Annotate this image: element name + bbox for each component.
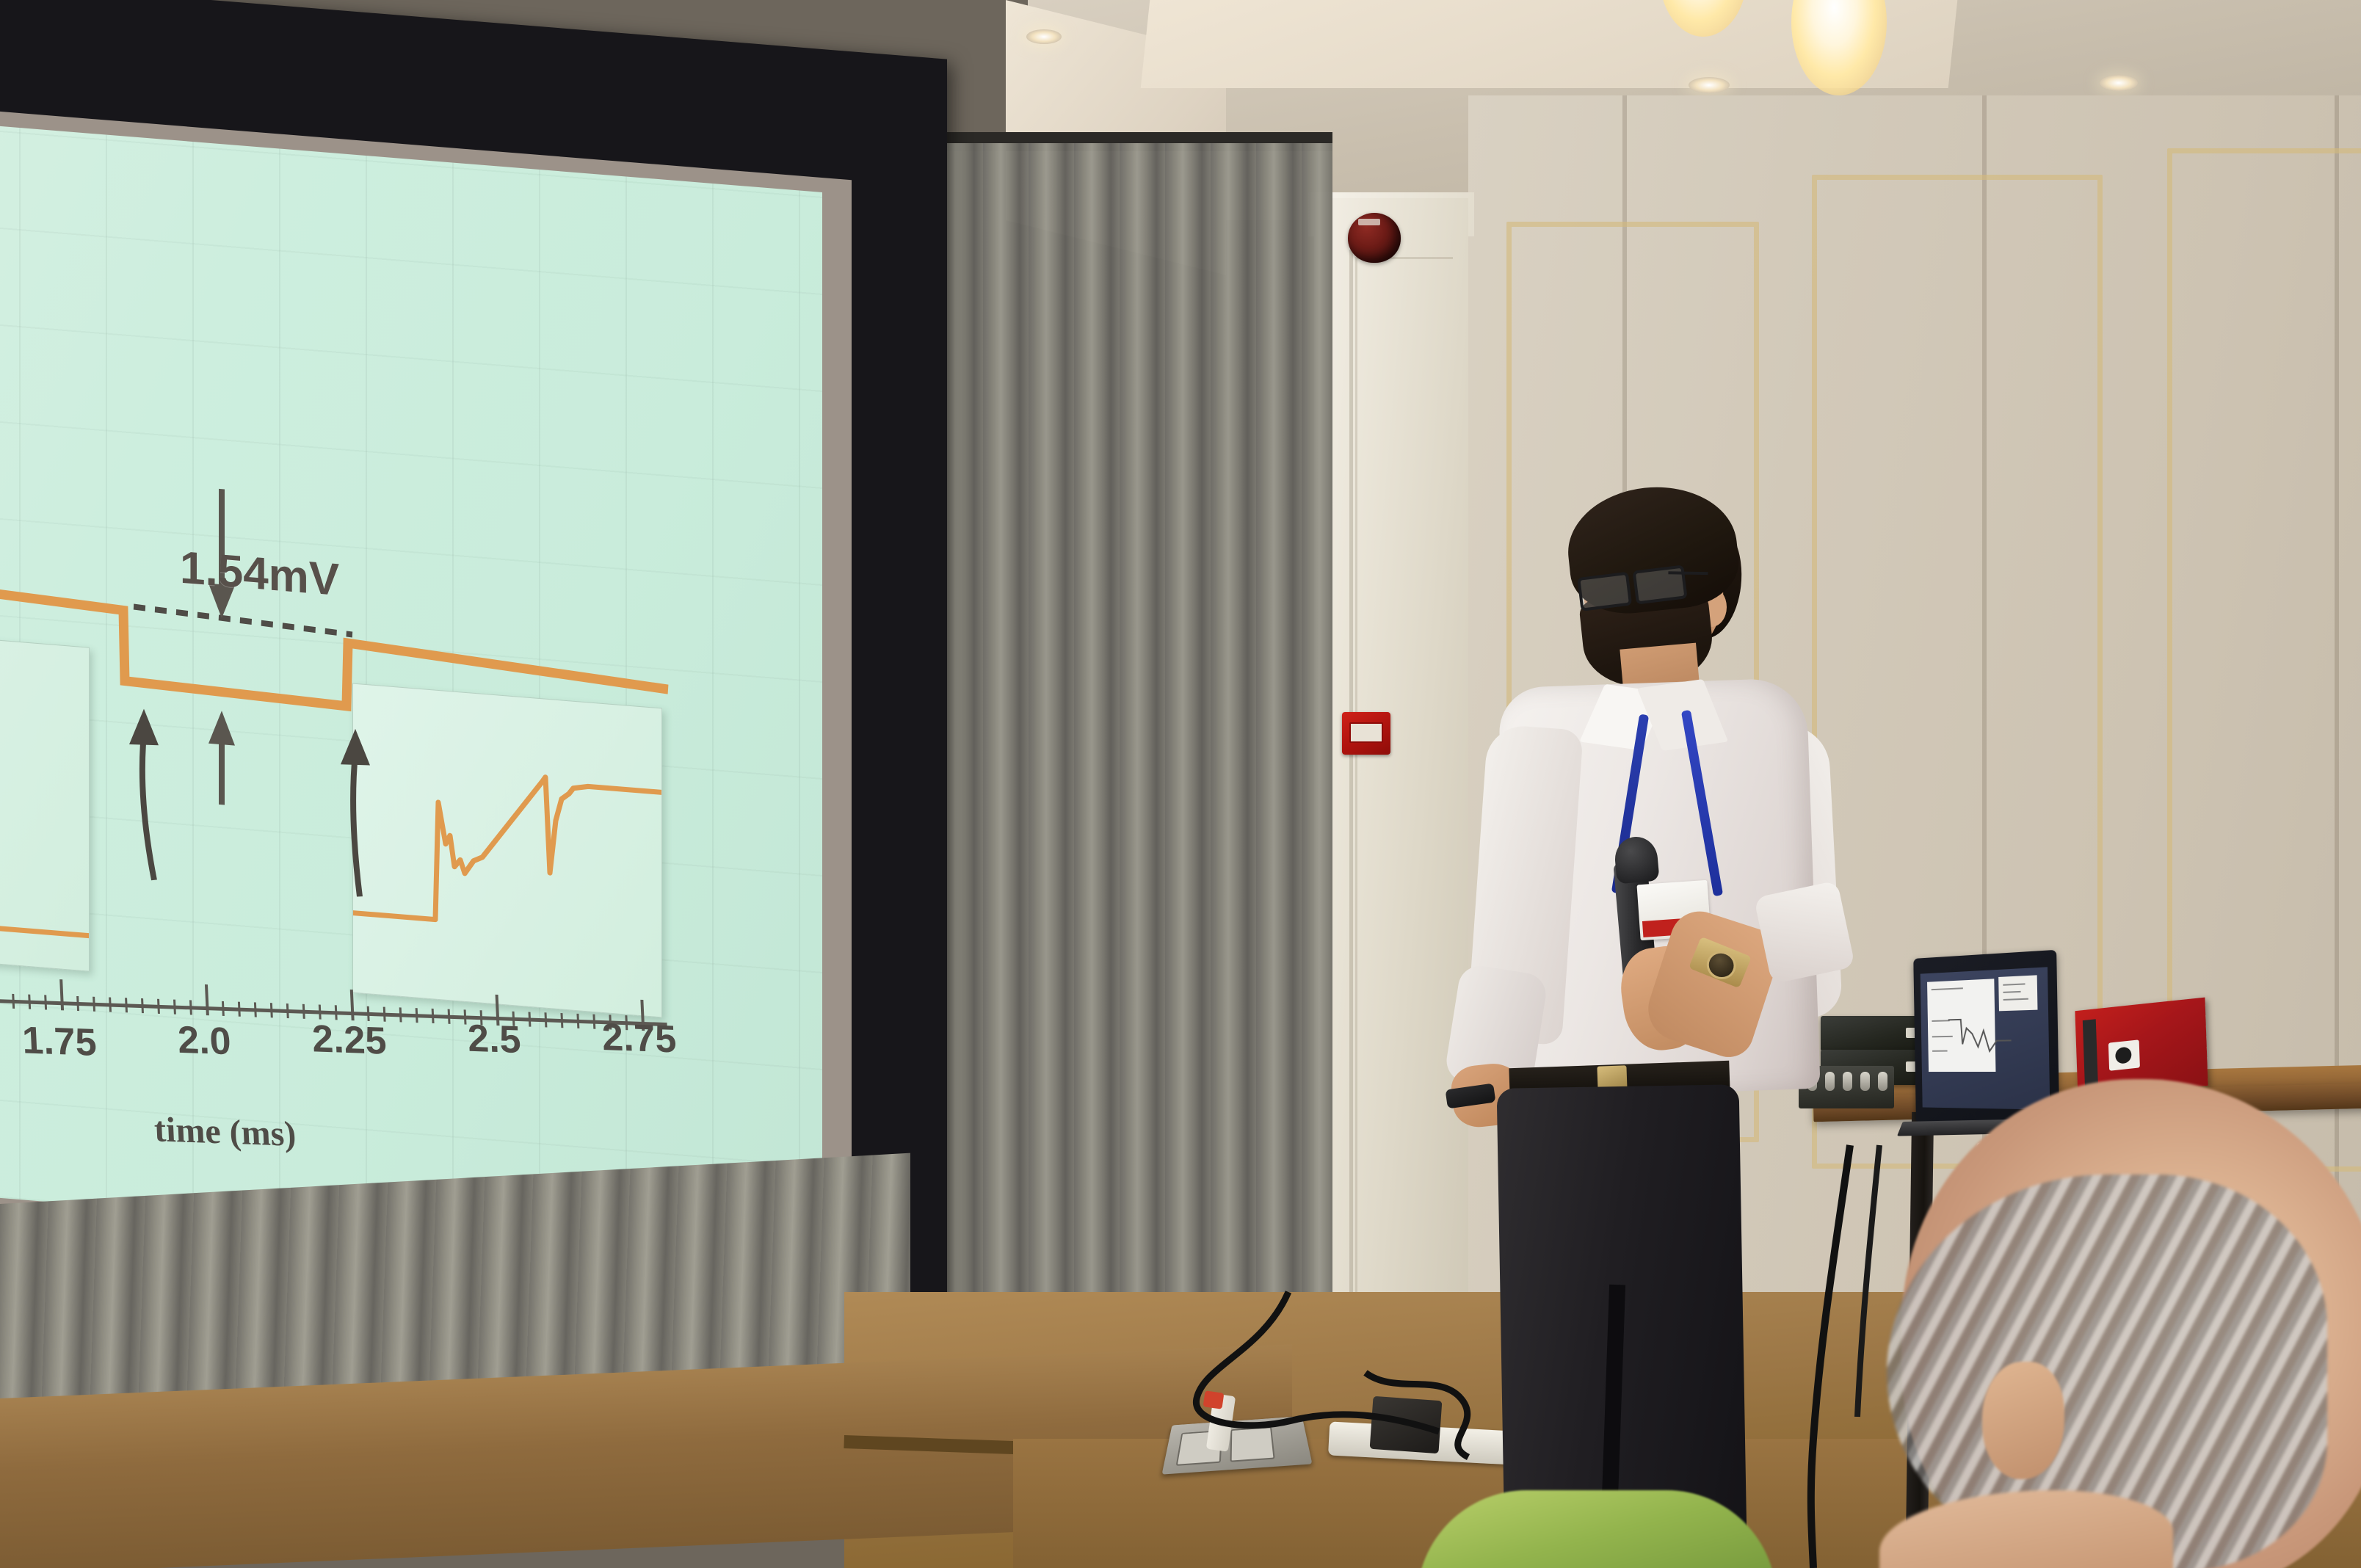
recessed-downlight (1026, 29, 1062, 44)
power-adapter (1370, 1396, 1443, 1453)
x-tick-label: 2.75 (601, 1015, 678, 1062)
glasses-lens (1577, 572, 1632, 611)
reference-dashed-line (134, 607, 352, 635)
booklet-logo-icon (2108, 1039, 2140, 1070)
callout-arrow-right-head (341, 727, 370, 766)
presenter (1439, 507, 1894, 1549)
laptop-mini-chart (1945, 1008, 2014, 1061)
socket-slot[interactable] (1230, 1426, 1274, 1462)
alarm-strobe-dome-icon (1348, 213, 1401, 263)
recessed-downlight (2100, 75, 2138, 91)
laptop-slide-preview (1927, 979, 1995, 1072)
laptop-display[interactable] (1921, 967, 2050, 1109)
conference-room-photo: VOUT (0, 0, 2361, 1568)
callout-arrow-left-shaft (142, 733, 154, 879)
up-arrow-head (208, 710, 235, 746)
callout-arrow-left-head (129, 708, 159, 747)
x-tick-label: 2.5 (467, 1016, 522, 1062)
x-tick-label: 2.25 (311, 1017, 388, 1064)
booklet-spine (2083, 1019, 2098, 1088)
callout-arrow-right-shaft (353, 754, 360, 897)
rolled-shirt-cuff (1754, 880, 1855, 984)
x-axis-title: time (ms) (153, 1109, 297, 1155)
laptop[interactable] (1913, 950, 2059, 1125)
projection-screen[interactable]: VOUT (0, 114, 822, 1264)
laptop-slide-thumbnail (1998, 975, 2037, 1011)
recessed-downlight (1689, 77, 1730, 93)
x-tick-label: 1.75 (21, 1018, 98, 1065)
audience-member-ear (1982, 1362, 2064, 1479)
presentation-slide: VOUT (0, 114, 822, 1264)
x-tick-label: 2.0 (177, 1018, 232, 1064)
grey-curtain (892, 143, 1332, 1457)
fire-call-point-icon[interactable] (1342, 712, 1390, 755)
pillar-groove (1349, 250, 1353, 1329)
plug-indicator (1203, 1390, 1225, 1409)
